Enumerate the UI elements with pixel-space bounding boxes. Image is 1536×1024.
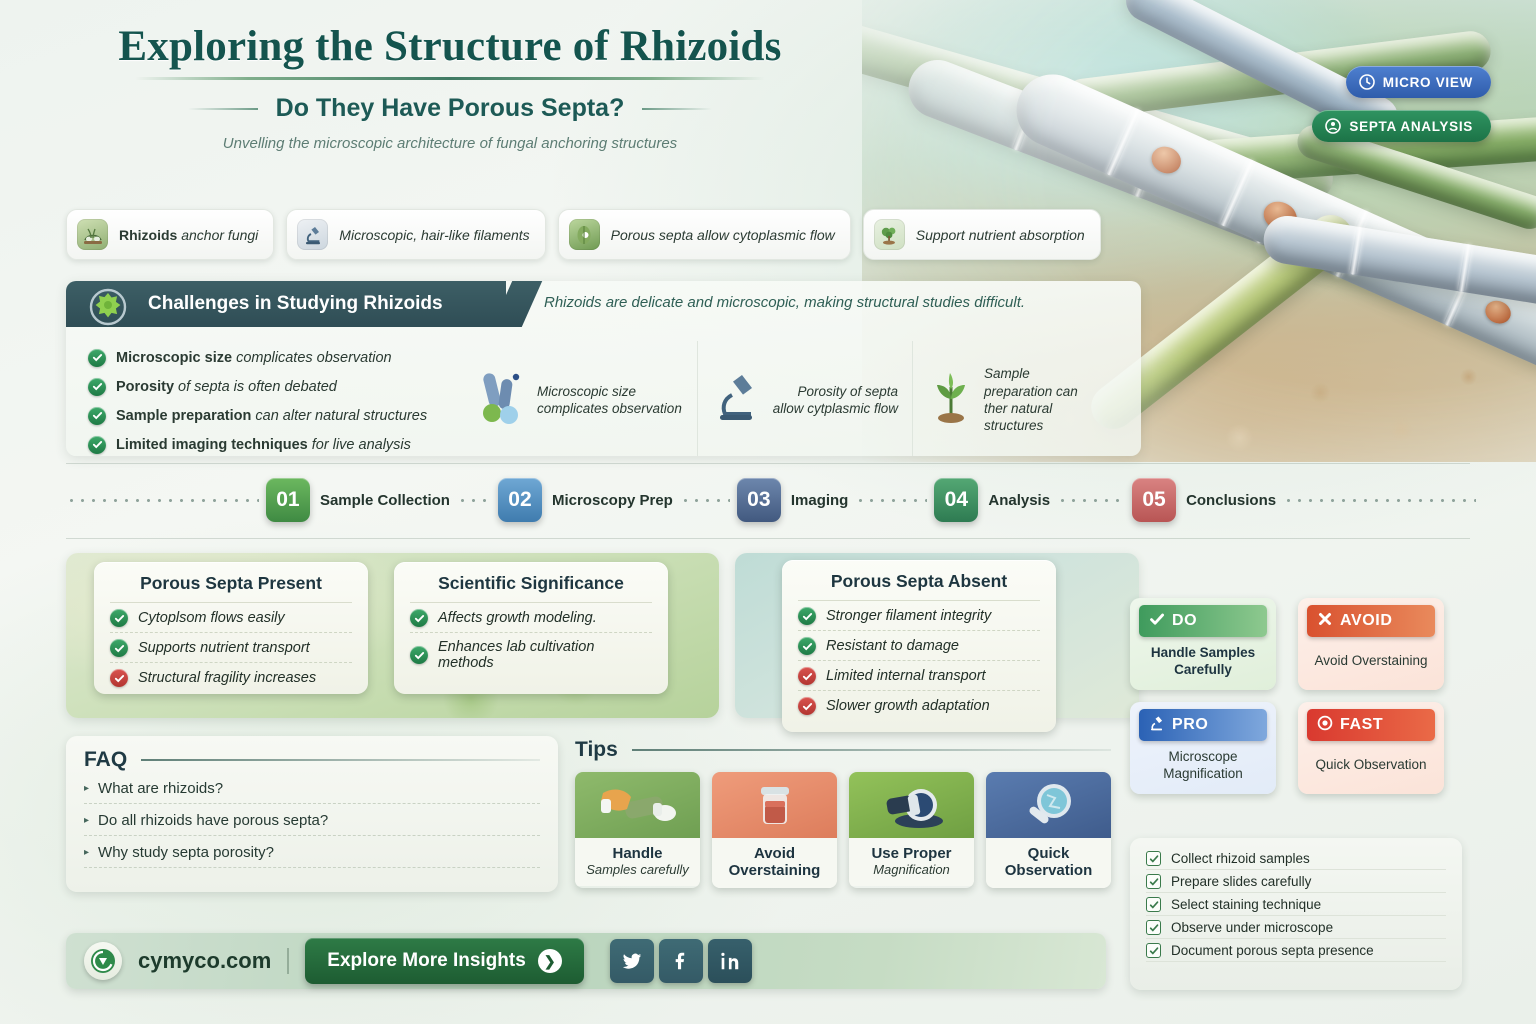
tips-grid: Handle Samples carefully Avoid Overstain… bbox=[575, 772, 1111, 888]
challenge-item: Limited imaging techniques for live anal… bbox=[88, 430, 466, 456]
challenges-panel: Challenges in Studying Rhizoids Rhizoids… bbox=[66, 281, 1141, 456]
tips-title: Tips bbox=[575, 738, 618, 762]
page-header: Exploring the Structure of Rhizoids Do T… bbox=[0, 22, 900, 152]
challenge-text: Limited imaging techniques for live anal… bbox=[116, 437, 411, 453]
card-list-item: Cytoplsom flows easily bbox=[110, 603, 352, 633]
challenge-mini-text: Microscopic size complicates observation bbox=[537, 383, 683, 418]
step-label: Analysis bbox=[988, 492, 1050, 509]
challenge-text: Porosity of septa is often debated bbox=[116, 379, 337, 395]
card-list-item: Affects growth modeling. bbox=[410, 603, 652, 633]
caret-right-icon: ▸ bbox=[84, 847, 89, 858]
card-item-text: Stronger filament integrity bbox=[826, 608, 991, 624]
qcard-fast[interactable]: FAST Quick Observation bbox=[1298, 702, 1444, 794]
microscope-circle-icon bbox=[1325, 118, 1341, 134]
challenge-mini-card: Porosity of septa allow cytplasmic flow bbox=[698, 341, 913, 456]
card-title: Porous Septa Absent bbox=[798, 571, 1040, 601]
qcard-header: FAST bbox=[1307, 709, 1435, 741]
challenges-list: Microscopic size complicates observation… bbox=[66, 337, 466, 456]
faq-title: FAQ bbox=[84, 748, 127, 772]
challenge-bold: Limited imaging techniques bbox=[116, 437, 308, 453]
plant-icon bbox=[874, 219, 905, 250]
challenge-text: Microscopic size complicates observation bbox=[116, 350, 392, 366]
tip-quick-observation[interactable]: Quick Observation bbox=[986, 772, 1111, 888]
card-title: Scientific Significance bbox=[410, 573, 652, 603]
card-list-item: Resistant to damage bbox=[798, 631, 1040, 661]
microscope-icon bbox=[712, 369, 760, 432]
challenge-bold: Sample preparation bbox=[116, 408, 251, 424]
card-item-text: Enhances lab cultivation methods bbox=[438, 639, 652, 671]
fact-rest: anchor fungi bbox=[177, 227, 258, 243]
microscope-icon bbox=[297, 219, 328, 250]
step-number: 01 bbox=[266, 478, 310, 522]
do-avoid-pro-fast-grid: DO Handle Samples Carefully AVOID Avoid … bbox=[1130, 598, 1478, 803]
porous-septa-icon bbox=[569, 219, 600, 250]
step-connector bbox=[457, 499, 491, 502]
step-02[interactable]: 02 Microscopy Prep bbox=[491, 478, 680, 522]
faq-question: Do all rhizoids have porous septa? bbox=[98, 812, 328, 829]
fact-rest: Porous septa allow cytoplasmic flow bbox=[611, 227, 835, 243]
challenge-rest: complicates observation bbox=[232, 350, 392, 366]
step-04[interactable]: 04 Analysis bbox=[927, 478, 1057, 522]
title-rule bbox=[135, 77, 765, 80]
check-icon bbox=[1149, 611, 1165, 632]
challenge-item: Porosity of septa is often debated bbox=[88, 372, 466, 401]
challenge-bold: Microscopic size bbox=[116, 350, 232, 366]
tip-subtitle: Samples carefully bbox=[579, 862, 696, 877]
checklist-item[interactable]: Select staining technique bbox=[1146, 893, 1446, 916]
page-tagline: Unvelling the microscopic architecture o… bbox=[0, 135, 900, 152]
fact-text: Support nutrient absorption bbox=[916, 227, 1085, 243]
checklist-text: Prepare slides carefully bbox=[1171, 874, 1311, 889]
challenge-rest: of septa is often debated bbox=[174, 379, 337, 395]
target-icon bbox=[1317, 715, 1333, 736]
card-list-item: Limited internal transport bbox=[798, 661, 1040, 691]
fact-text: Rhizoids anchor fungi bbox=[119, 227, 258, 243]
test-tubes-icon bbox=[480, 369, 528, 432]
qcard-pro[interactable]: PRO Microscope Magnification bbox=[1130, 702, 1276, 794]
step-connector bbox=[680, 499, 730, 502]
objective-lens-icon bbox=[849, 772, 974, 838]
checklist-panel: Collect rhizoid samples Prepare slides c… bbox=[1130, 838, 1462, 990]
step-label: Conclusions bbox=[1186, 492, 1276, 509]
challenges-header: Challenges in Studying Rhizoids bbox=[66, 281, 506, 327]
magnifier-icon bbox=[986, 772, 1111, 838]
step-01[interactable]: 01 Sample Collection bbox=[259, 478, 457, 522]
facebook-icon[interactable] bbox=[659, 939, 703, 983]
section-divider-top bbox=[66, 463, 1470, 464]
fact-pill-filaments[interactable]: Microscopic, hair-like filaments bbox=[286, 209, 545, 260]
step-number: 04 bbox=[934, 478, 978, 522]
fact-pill-nutrient[interactable]: Support nutrient absorption bbox=[863, 209, 1101, 260]
qcard-header: DO bbox=[1139, 605, 1267, 637]
badge-label: MICRO VIEW bbox=[1383, 75, 1473, 90]
step-number: 05 bbox=[1132, 478, 1176, 522]
section-divider-bottom bbox=[66, 538, 1470, 539]
subtitle-rule-left bbox=[188, 108, 258, 110]
faq-question: Why study septa porosity? bbox=[98, 844, 274, 861]
check-icon bbox=[88, 436, 106, 454]
step-number: 03 bbox=[737, 478, 781, 522]
step-connector bbox=[1283, 499, 1476, 502]
qcard-text: Microscope Magnification bbox=[1130, 741, 1276, 794]
faq-section: FAQ ▸ What are rhizoids? ▸ Do all rhizoi… bbox=[66, 736, 558, 892]
process-steps: 01 Sample Collection 02 Microscopy Prep … bbox=[66, 477, 1476, 523]
card-item-text: Resistant to damage bbox=[826, 638, 959, 654]
qcard-text: Avoid Overstaining bbox=[1298, 637, 1444, 690]
qcard-tag: AVOID bbox=[1340, 612, 1392, 630]
qcard-text: Quick Observation bbox=[1298, 741, 1444, 794]
checklist-text: Document porous septa presence bbox=[1171, 943, 1374, 958]
fact-rest: Support nutrient absorption bbox=[916, 227, 1085, 243]
qcard-tag: PRO bbox=[1172, 716, 1208, 734]
card-item-text: Limited internal transport bbox=[826, 668, 986, 684]
checklist-text: Collect rhizoid samples bbox=[1171, 851, 1310, 866]
checkbox-checked-icon bbox=[1146, 874, 1161, 889]
challenges-description: Rhizoids are delicate and microscopic, m… bbox=[544, 294, 1025, 311]
challenge-mini-card: Microscopic size complicates observation bbox=[466, 341, 698, 456]
virus-cycle-icon bbox=[84, 283, 132, 331]
page-title: Exploring the Structure of Rhizoids bbox=[0, 22, 900, 71]
footer-divider bbox=[287, 948, 289, 974]
badge-septa-analysis[interactable]: SEPTA ANALYSIS bbox=[1312, 110, 1491, 142]
qcard-header: PRO bbox=[1139, 709, 1267, 741]
badge-micro-view[interactable]: MICRO VIEW bbox=[1346, 66, 1491, 98]
glove-brush-icon bbox=[575, 772, 700, 838]
brand-name: cymyco.com bbox=[138, 948, 271, 974]
challenge-mini-card: Sample preparation can ther natural stru… bbox=[913, 341, 1113, 456]
fact-text: Microscopic, hair-like filaments bbox=[339, 227, 529, 243]
checklist-item[interactable]: Collect rhizoid samples bbox=[1146, 847, 1446, 870]
step-connector bbox=[66, 499, 259, 502]
check-icon bbox=[410, 646, 428, 664]
linkedin-icon[interactable] bbox=[708, 939, 752, 983]
step-number: 02 bbox=[498, 478, 542, 522]
footer-bar: cymyco.com Explore More Insights ❯ bbox=[66, 933, 1106, 989]
checkbox-checked-icon bbox=[1146, 943, 1161, 958]
check-icon bbox=[798, 637, 816, 655]
challenges-body: Microscopic size complicates observation… bbox=[66, 327, 1141, 456]
step-05[interactable]: 05 Conclusions bbox=[1125, 478, 1283, 522]
badge-label: SEPTA ANALYSIS bbox=[1349, 119, 1473, 134]
fact-text: Porous septa allow cytoplasmic flow bbox=[611, 227, 835, 243]
step-connector bbox=[855, 499, 927, 502]
check-icon bbox=[798, 607, 816, 625]
qcard-tag: FAST bbox=[1340, 716, 1383, 734]
faq-question: What are rhizoids? bbox=[98, 780, 223, 797]
card-item-text: Affects growth modeling. bbox=[438, 610, 597, 626]
step-label: Imaging bbox=[791, 492, 849, 509]
cross-icon bbox=[1317, 611, 1333, 632]
qcard-avoid[interactable]: AVOID Avoid Overstaining bbox=[1298, 598, 1444, 690]
tip-title: Use Proper bbox=[853, 845, 970, 862]
check-icon-negative bbox=[798, 697, 816, 715]
tip-title: Handle bbox=[579, 845, 696, 862]
checkbox-checked-icon bbox=[1146, 851, 1161, 866]
seedling-icon bbox=[927, 369, 975, 432]
faq-item[interactable]: ▸ What are rhizoids? bbox=[84, 772, 540, 804]
card-porous-septa-absent: Porous Septa Absent Stronger filament in… bbox=[782, 560, 1056, 732]
tip-caption: Handle Samples carefully bbox=[575, 838, 700, 886]
tip-caption: Use Proper Magnification bbox=[849, 838, 974, 886]
challenge-mini-text: Sample preparation can ther natural stru… bbox=[984, 365, 1099, 434]
cta-label: Explore More Insights bbox=[327, 950, 525, 972]
challenge-rest: can alter natural structures bbox=[251, 408, 427, 424]
step-03[interactable]: 03 Imaging bbox=[730, 478, 856, 522]
check-icon bbox=[110, 609, 128, 627]
faq-item[interactable]: ▸ Do all rhizoids have porous septa? bbox=[84, 804, 540, 836]
challenge-mini-text: Porosity of septa allow cytplasmic flow bbox=[769, 383, 898, 418]
caret-right-icon: ▸ bbox=[84, 783, 89, 794]
chevron-right-icon: ❯ bbox=[538, 949, 562, 973]
check-icon-negative bbox=[110, 669, 128, 687]
subtitle-row: Do They Have Porous Septa? bbox=[0, 94, 900, 123]
checklist-item[interactable]: Document porous septa presence bbox=[1146, 939, 1446, 962]
card-item-text: Cytoplsom flows easily bbox=[138, 610, 285, 626]
faq-rule bbox=[141, 759, 540, 761]
subtitle-rule-right bbox=[642, 108, 712, 110]
brand-logo-icon bbox=[84, 942, 122, 980]
card-list-item: Slower growth adaptation bbox=[798, 691, 1040, 720]
checklist-item[interactable]: Observe under microscope bbox=[1146, 916, 1446, 939]
card-title: Porous Septa Present bbox=[110, 573, 352, 603]
faq-item[interactable]: ▸ Why study septa porosity? bbox=[84, 836, 540, 868]
qcard-text: Handle Samples Carefully bbox=[1130, 637, 1276, 690]
card-scientific-significance: Scientific Significance Affects growth m… bbox=[394, 562, 668, 694]
challenge-rest: for live analysis bbox=[308, 437, 411, 453]
card-list-item: Stronger filament integrity bbox=[798, 601, 1040, 631]
card-item-text: Supports nutrient transport bbox=[138, 640, 310, 656]
challenge-bold: Porosity bbox=[116, 379, 174, 395]
challenge-item: Sample preparation can alter natural str… bbox=[88, 401, 466, 430]
step-label: Sample Collection bbox=[320, 492, 450, 509]
tip-caption: Quick Observation bbox=[986, 838, 1111, 888]
check-icon bbox=[88, 378, 106, 396]
tips-header: Tips bbox=[575, 738, 1111, 762]
step-label: Microscopy Prep bbox=[552, 492, 673, 509]
social-links bbox=[610, 939, 752, 983]
card-list-item: Structural fragility increases bbox=[110, 663, 352, 692]
checklist-text: Observe under microscope bbox=[1171, 920, 1333, 935]
check-icon bbox=[88, 407, 106, 425]
twitter-icon[interactable] bbox=[610, 939, 654, 983]
quick-facts-row: Rhizoids anchor fungi Microscopic, hair-… bbox=[66, 209, 1101, 260]
tip-caption: Avoid Overstaining bbox=[712, 838, 837, 888]
tip-handle[interactable]: Handle Samples carefully bbox=[575, 772, 700, 888]
qcard-do[interactable]: DO Handle Samples Carefully bbox=[1130, 598, 1276, 690]
card-list-item: Enhances lab cultivation methods bbox=[410, 633, 652, 676]
qcard-tag: DO bbox=[1172, 612, 1197, 630]
fact-pill-porous-septa[interactable]: Porous septa allow cytoplasmic flow bbox=[558, 209, 851, 260]
stain-jar-icon bbox=[712, 772, 837, 838]
card-item-text: Structural fragility increases bbox=[138, 670, 316, 686]
page-subtitle: Do They Have Porous Septa? bbox=[276, 94, 625, 123]
card-list-item: Supports nutrient transport bbox=[110, 633, 352, 663]
fact-pill-rhizoids[interactable]: Rhizoids anchor fungi bbox=[66, 209, 274, 260]
tip-subtitle: Observation bbox=[990, 862, 1107, 879]
card-porous-septa-present: Porous Septa Present Cytoplsom flows eas… bbox=[94, 562, 368, 694]
checklist-text: Select staining technique bbox=[1171, 897, 1321, 912]
rhizoid-cells-icon bbox=[77, 219, 108, 250]
challenges-title: Challenges in Studying Rhizoids bbox=[148, 293, 443, 315]
fact-rest: Microscopic, hair-like filaments bbox=[339, 227, 529, 243]
card-item-text: Slower growth adaptation bbox=[826, 698, 990, 714]
clock-icon bbox=[1359, 74, 1375, 90]
tip-title: Avoid bbox=[716, 845, 833, 862]
check-icon-negative bbox=[798, 667, 816, 685]
faq-header: FAQ bbox=[84, 748, 540, 772]
tips-section: Tips Handle Samples carefully bbox=[575, 738, 1111, 888]
caret-right-icon: ▸ bbox=[84, 815, 89, 826]
challenge-item: Microscopic size complicates observation bbox=[88, 343, 466, 372]
tip-subtitle: Overstaining bbox=[716, 862, 833, 879]
infographic-page: Exploring the Structure of Rhizoids Do T… bbox=[0, 0, 1536, 1024]
fact-bold: Rhizoids bbox=[119, 227, 177, 243]
check-icon bbox=[88, 349, 106, 367]
hero-badge-group: MICRO VIEW SEPTA ANALYSIS bbox=[1312, 66, 1491, 142]
tip-title: Quick bbox=[990, 845, 1107, 862]
tip-avoid[interactable]: Avoid Overstaining bbox=[712, 772, 837, 888]
check-icon bbox=[110, 639, 128, 657]
tip-subtitle: Magnification bbox=[853, 862, 970, 877]
checkbox-checked-icon bbox=[1146, 920, 1161, 935]
tip-magnification[interactable]: Use Proper Magnification bbox=[849, 772, 974, 888]
tips-rule bbox=[632, 749, 1111, 751]
qcard-header: AVOID bbox=[1307, 605, 1435, 637]
check-icon bbox=[410, 609, 428, 627]
explore-more-button[interactable]: Explore More Insights ❯ bbox=[305, 938, 583, 984]
challenges-mini-cards: Microscopic size complicates observation… bbox=[466, 341, 1113, 456]
checkbox-checked-icon bbox=[1146, 897, 1161, 912]
step-connector bbox=[1057, 499, 1125, 502]
checklist-item[interactable]: Prepare slides carefully bbox=[1146, 870, 1446, 893]
challenge-text: Sample preparation can alter natural str… bbox=[116, 408, 427, 424]
microscope-icon bbox=[1149, 715, 1165, 736]
